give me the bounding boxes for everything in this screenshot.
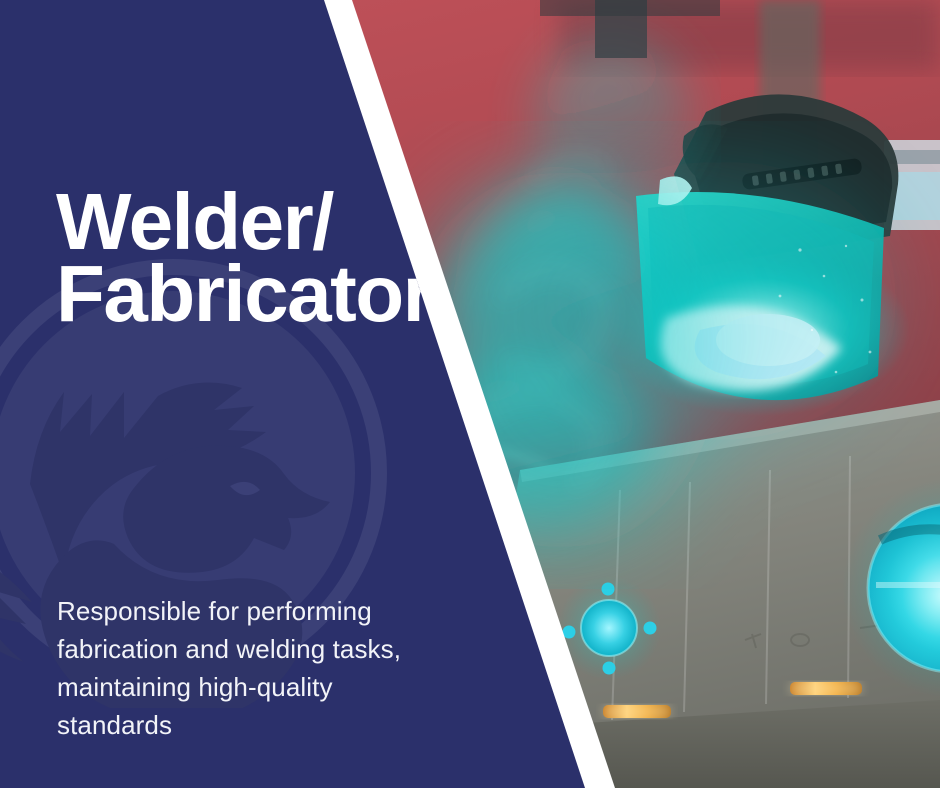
role-description: Responsible for performing fabrication a… xyxy=(57,592,427,744)
job-role-card: Welder/ Fabricator Responsible for perfo… xyxy=(0,0,940,788)
